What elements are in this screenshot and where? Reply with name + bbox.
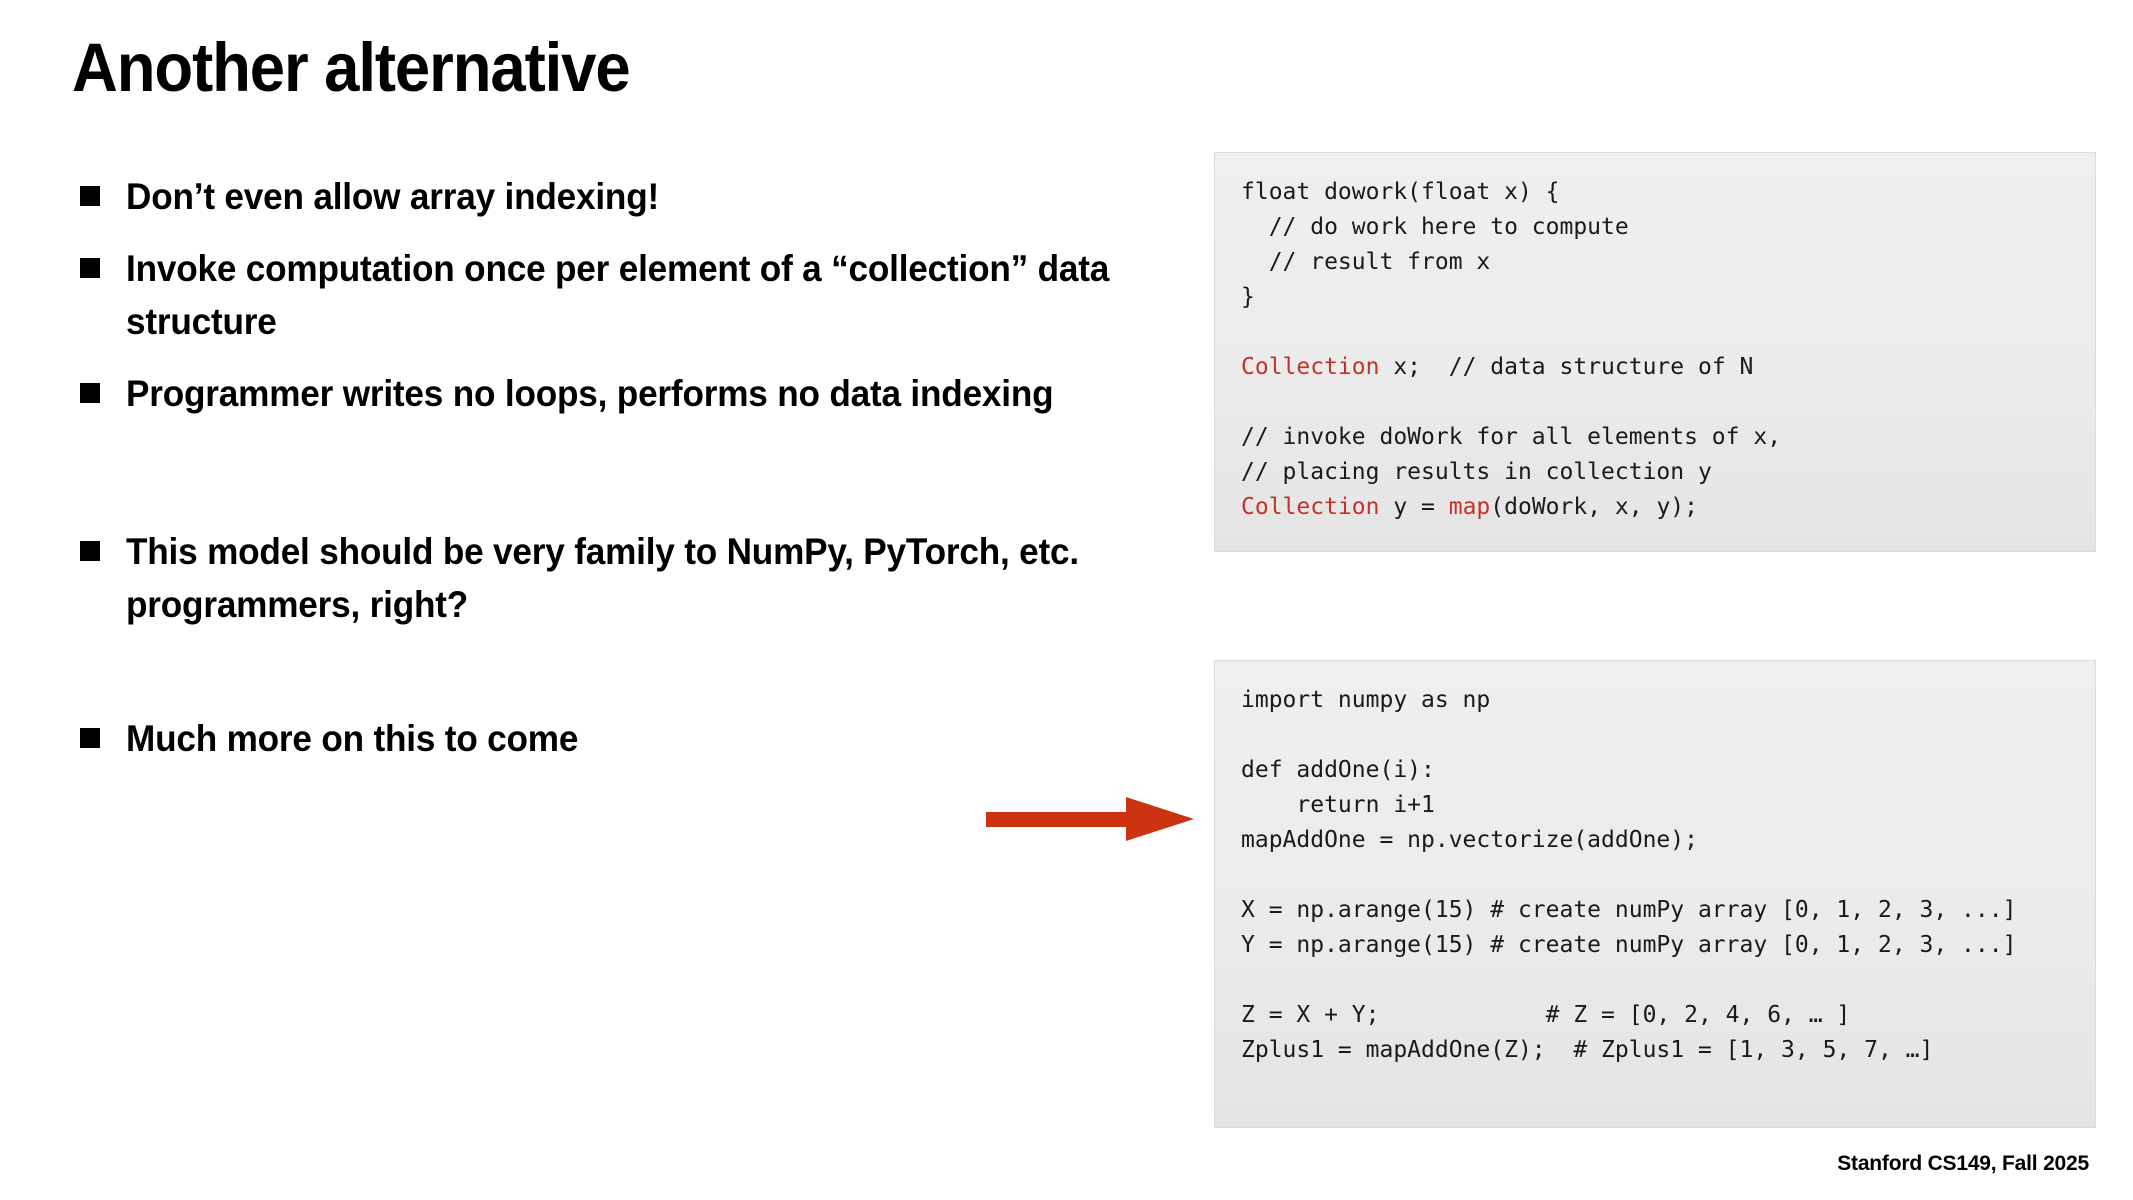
list-item-label: Invoke computation once per element of a… xyxy=(126,242,1118,349)
list-item-label: Programmer writes no loops, performs no … xyxy=(126,367,1053,421)
code-text: import numpy as np xyxy=(1241,687,1490,713)
list-item-label: Don’t even allow array indexing! xyxy=(126,170,659,224)
code-text: x; // data structure of N xyxy=(1379,354,1753,380)
square-bullet-icon xyxy=(80,383,100,403)
code-line: // placing results in collection y xyxy=(1241,455,2069,490)
code-keyword: Collection xyxy=(1241,354,1379,380)
list-spacer xyxy=(80,650,1170,712)
collection-map-code-block: float dowork(float x) { // do work here … xyxy=(1214,152,2096,552)
code-text: def addOne(i): xyxy=(1241,757,1435,783)
slide-footer: Stanford CS149, Fall 2025 xyxy=(1837,1152,2089,1176)
code-line xyxy=(1241,963,2069,998)
code-line: Collection x; // data structure of N xyxy=(1241,350,2069,385)
code-line xyxy=(1241,315,2069,350)
code-text: y = xyxy=(1379,494,1448,520)
code-text: float dowork(float x) { xyxy=(1241,179,1560,205)
code-text: X = np.arange(15) # create numPy array [… xyxy=(1241,897,2016,923)
list-item: Much more on this to come xyxy=(80,712,1170,766)
code-keyword: map xyxy=(1449,494,1491,520)
square-bullet-icon xyxy=(80,728,100,748)
numpy-vectorize-code-block: import numpy as np def addOne(i): return… xyxy=(1214,660,2096,1128)
list-spacer xyxy=(80,439,1170,525)
code-text: mapAddOne = np.vectorize(addOne); xyxy=(1241,827,1698,853)
code-text: // placing results in collection y xyxy=(1241,459,1712,485)
code-keyword: Collection xyxy=(1241,494,1379,520)
code-line: X = np.arange(15) # create numPy array [… xyxy=(1241,893,2069,928)
code-text: Y = np.arange(15) # create numPy array [… xyxy=(1241,932,2016,958)
bullet-list: Don’t even allow array indexing! Invoke … xyxy=(80,170,1170,783)
code-line: Y = np.arange(15) # create numPy array [… xyxy=(1241,928,2069,963)
code-line xyxy=(1241,718,2069,753)
list-item: Programmer writes no loops, performs no … xyxy=(80,367,1170,421)
code-line: mapAddOne = np.vectorize(addOne); xyxy=(1241,823,2069,858)
code-line: // invoke doWork for all elements of x, xyxy=(1241,420,2069,455)
code-line: return i+1 xyxy=(1241,788,2069,823)
code-line: // do work here to compute xyxy=(1241,210,2069,245)
code-text: return i+1 xyxy=(1241,792,1435,818)
code-text: (doWork, x, y); xyxy=(1490,494,1698,520)
code-line: } xyxy=(1241,280,2069,315)
code-text: // do work here to compute xyxy=(1241,214,1629,240)
square-bullet-icon xyxy=(80,541,100,561)
code-text: Zplus1 = mapAddOne(Z); # Zplus1 = [1, 3,… xyxy=(1241,1037,1933,1063)
code-text: } xyxy=(1241,284,1255,310)
code-text: Z = X + Y; # Z = [0, 2, 4, 6, … ] xyxy=(1241,1002,1850,1028)
slide-canvas: Another alternative Don’t even allow arr… xyxy=(0,0,2133,1200)
code-line: Z = X + Y; # Z = [0, 2, 4, 6, … ] xyxy=(1241,998,2069,1033)
code-line xyxy=(1241,858,2069,893)
list-item: This model should be very family to NumP… xyxy=(80,525,1170,632)
pointer-arrow-icon xyxy=(986,795,1196,843)
square-bullet-icon xyxy=(80,186,100,206)
code-text: // invoke doWork for all elements of x, xyxy=(1241,424,1781,450)
code-line: // result from x xyxy=(1241,245,2069,280)
list-item-label: Much more on this to come xyxy=(126,712,578,766)
code-line xyxy=(1241,385,2069,420)
code-text: // result from x xyxy=(1241,249,1490,275)
list-item-label: This model should be very family to NumP… xyxy=(126,525,1118,632)
list-item: Invoke computation once per element of a… xyxy=(80,242,1170,349)
code-line: def addOne(i): xyxy=(1241,753,2069,788)
list-item: Don’t even allow array indexing! xyxy=(80,170,1170,224)
code-line: import numpy as np xyxy=(1241,683,2069,718)
code-line: float dowork(float x) { xyxy=(1241,175,2069,210)
square-bullet-icon xyxy=(80,258,100,278)
code-line: Zplus1 = mapAddOne(Z); # Zplus1 = [1, 3,… xyxy=(1241,1033,2069,1068)
code-line: Collection y = map(doWork, x, y); xyxy=(1241,490,2069,525)
page-title: Another alternative xyxy=(72,28,630,107)
